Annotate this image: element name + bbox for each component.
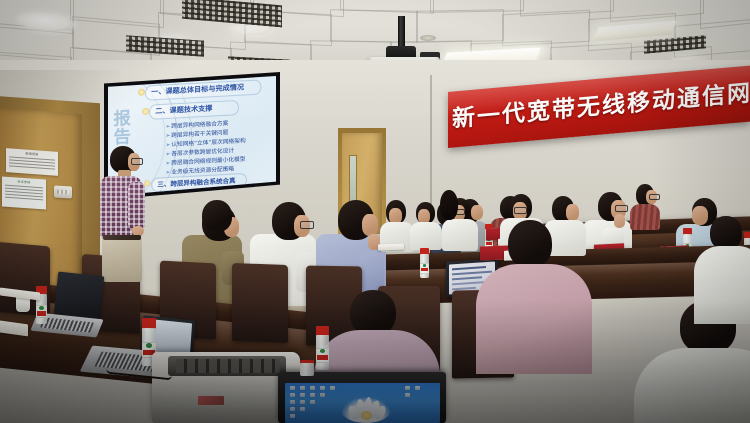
attendee-shirt (634, 348, 750, 423)
presenter-arm (128, 182, 145, 230)
attendee-head (710, 216, 742, 250)
glasses-icon (131, 158, 143, 165)
glasses-icon (514, 207, 527, 214)
attendee-head (440, 190, 458, 220)
attendee-shirt (476, 264, 592, 374)
presenter-trousers (102, 236, 142, 282)
projector-mount-pole (398, 16, 405, 50)
door-notice: 会议安排 (2, 176, 46, 209)
attendee-shirt (410, 222, 442, 250)
smoke-detector-icon (420, 35, 436, 41)
glasses-icon (649, 194, 660, 200)
water-bottle (420, 248, 429, 278)
glasses-icon (300, 221, 314, 229)
light-switch-panel[interactable] (54, 186, 72, 199)
attendee-shirt (630, 204, 660, 230)
chair[interactable] (232, 263, 288, 343)
attendee-hand (614, 214, 625, 228)
meeting-room-photo: 使用须知 会议安排 报告 一、课题总体目标与完成情况 二、课题技术支撑 ➢跨层异… (0, 0, 750, 423)
attendee-shirt (694, 246, 750, 324)
attendee-face (362, 214, 378, 236)
water-bottle (300, 360, 314, 376)
attendee-shirt (442, 219, 478, 251)
laptop-screen (54, 272, 105, 321)
printer-brand-label (198, 396, 224, 405)
monitor-desktop[interactable] (285, 383, 440, 423)
water-bottle (316, 326, 329, 370)
printer-paper-slots (176, 359, 280, 373)
document-stack (378, 244, 404, 251)
attendee-face (692, 206, 708, 225)
glasses-icon (615, 205, 628, 212)
attendee-face (566, 204, 579, 221)
attendee-head (202, 200, 232, 232)
slide-watermark: 报告 (110, 109, 127, 147)
attendee-head (508, 220, 552, 268)
presenter-belt (103, 235, 141, 240)
attendee-face (471, 205, 483, 220)
door-notice: 使用须知 (6, 148, 58, 176)
lotus-wallpaper (341, 397, 391, 423)
